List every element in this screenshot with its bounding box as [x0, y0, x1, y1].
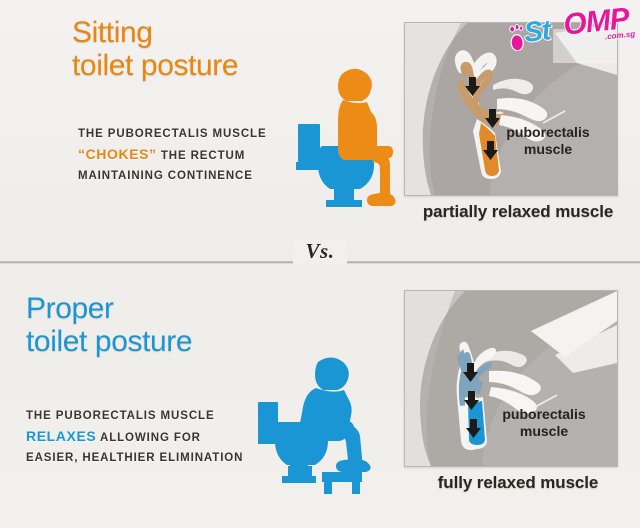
body-copy-proper: THE PUBORECTALIS MUSCLE RELAXES ALLOWING… — [26, 406, 243, 468]
proper-copy-line2-rest: ALLOWING FOR — [100, 432, 201, 444]
caption-partially-relaxed: partially relaxed muscle — [396, 202, 640, 222]
anatomy-diagram-proper: puborectalis muscle — [404, 290, 618, 467]
footstool — [322, 472, 362, 482]
figure-person-sitting — [296, 62, 408, 210]
heading-proper-posture: Proper toilet posture — [26, 292, 192, 358]
caption-fully-relaxed: fully relaxed muscle — [396, 473, 640, 493]
sitting-copy-line3: MAINTAINING CONTINENCE — [78, 166, 267, 186]
sitting-copy-line1: THE PUBORECTALIS MUSCLE — [78, 124, 267, 144]
heading-sitting-line2: toilet posture — [72, 49, 238, 82]
body-copy-sitting: THE PUBORECTALIS MUSCLE “CHOKES” THE REC… — [78, 124, 267, 186]
heading-proper-line2: toilet posture — [26, 325, 192, 358]
anatomy-label-line1-proper: puborectalis — [502, 406, 585, 422]
anatomy-label-line2-sitting: muscle — [524, 141, 572, 157]
panel-proper-posture: Proper toilet posture THE PUBORECTALIS M… — [0, 266, 640, 528]
anatomy-proper-svg: puborectalis muscle — [405, 291, 617, 466]
figure-person-squatting — [258, 356, 408, 498]
sitting-copy-line2-rest: THE RECTUM — [161, 150, 245, 162]
logo-text-st: St — [522, 14, 551, 49]
sitting-highlight-chokes: “CHOKES” — [78, 146, 157, 162]
person-blue-squatting — [288, 358, 371, 477]
heading-sitting-posture: Sitting toilet posture — [72, 16, 238, 82]
heading-proper-line1: Proper — [26, 292, 114, 325]
proper-copy-line2: RELAXES ALLOWING FOR — [26, 426, 243, 448]
panel-divider — [0, 261, 640, 264]
proper-copy-line3: EASIER, HEALTHIER ELIMINATION — [26, 448, 243, 468]
proper-copy-line1: THE PUBORECTALIS MUSCLE — [26, 406, 243, 426]
logo-text-tld: .com.sg — [605, 29, 636, 41]
heading-sitting-line1: Sitting — [72, 16, 153, 49]
sitting-figure-svg — [296, 62, 408, 210]
anatomy-label-line2-proper: muscle — [520, 423, 568, 439]
infographic-root: Sitting toilet posture THE PUBORECTALIS … — [0, 0, 640, 528]
anatomy-label-line1-sitting: puborectalis — [506, 124, 589, 140]
proper-highlight-relaxes: RELAXES — [26, 428, 96, 444]
proper-figure-svg — [258, 356, 408, 498]
sitting-copy-line2: “CHOKES” THE RECTUM — [78, 144, 267, 166]
